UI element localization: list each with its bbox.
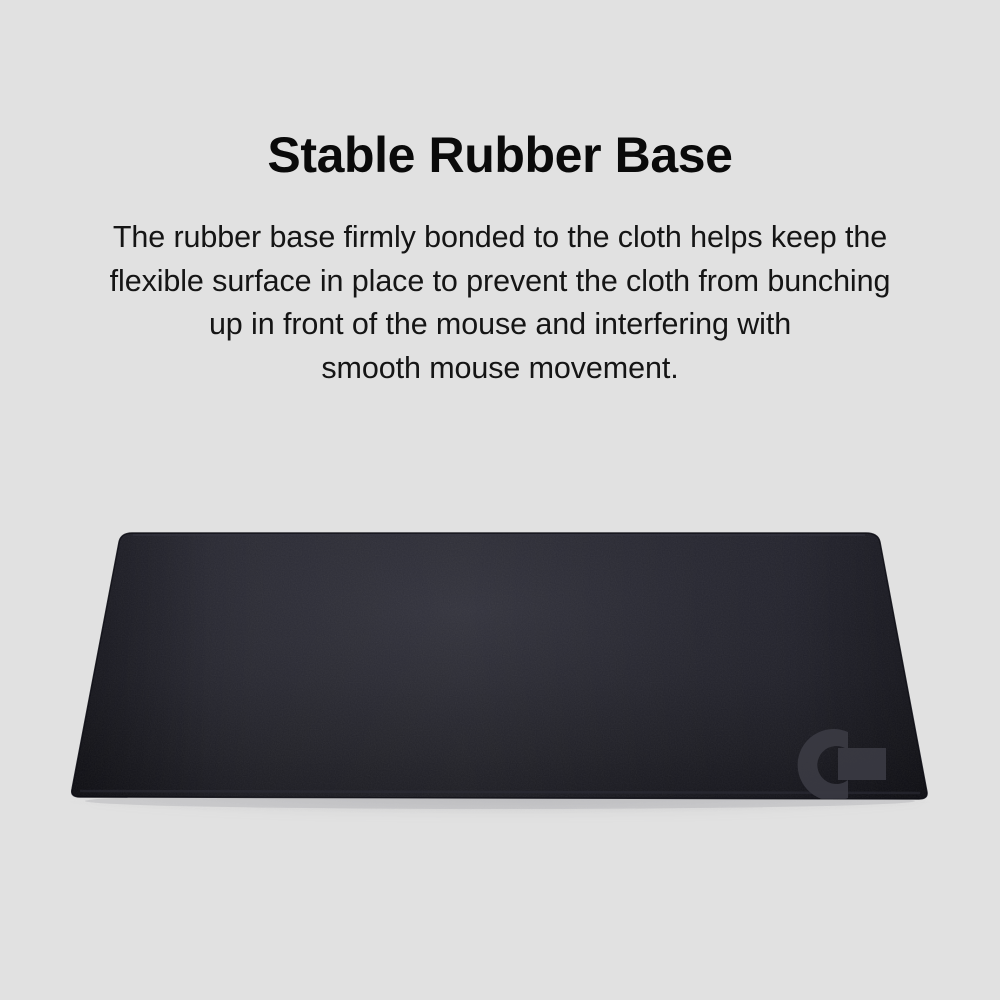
description-line-1: The rubber base firmly bonded to the clo…	[30, 216, 970, 260]
description-line-2: flexible surface in place to prevent the…	[30, 260, 970, 304]
description-line-3: up in front of the mouse and interfering…	[30, 303, 970, 347]
description-line-4: smooth mouse movement.	[30, 347, 970, 391]
product-feature-panel: Stable Rubber Base The rubber base firml…	[0, 0, 1000, 1000]
mousepad-image	[0, 480, 1000, 880]
product-image-stage	[0, 480, 1000, 880]
description-paragraph: The rubber base firmly bonded to the clo…	[30, 216, 970, 390]
page-title: Stable Rubber Base	[0, 125, 1000, 185]
logitech-g-shoulder	[862, 764, 886, 780]
mousepad-svg	[0, 480, 1000, 880]
